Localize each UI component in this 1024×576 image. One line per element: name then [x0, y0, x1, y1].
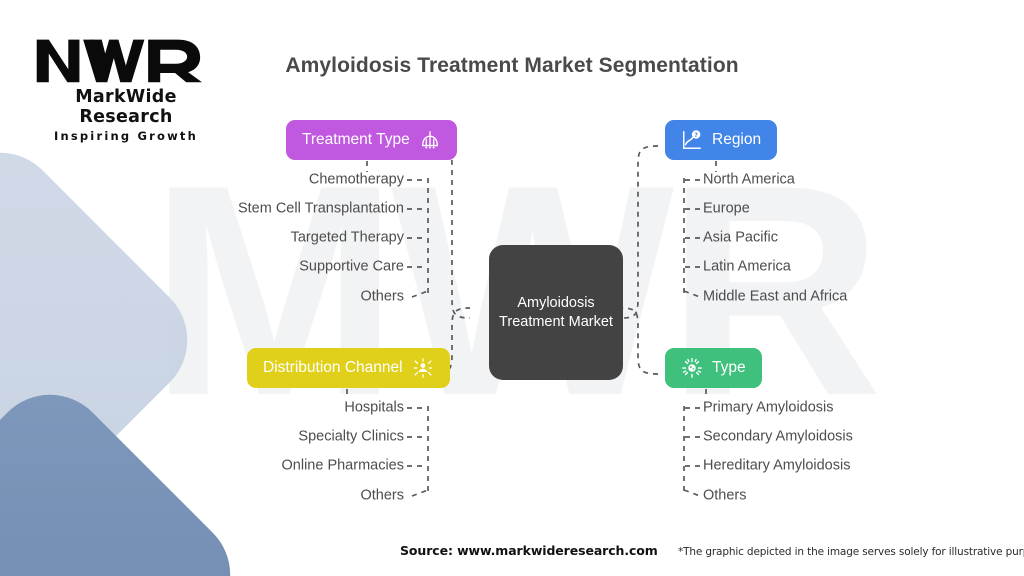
- leaf-type-2[interactable]: Hereditary Amyloidosis: [703, 458, 850, 475]
- leaf-treatment-0[interactable]: Chemotherapy: [309, 172, 404, 189]
- chart-location-icon: ?: [681, 129, 703, 151]
- wire-region-to-center: [622, 146, 658, 318]
- branch-label-treatment-type: Treatment Type: [302, 131, 410, 149]
- sun-burst-icon: [681, 357, 703, 379]
- leaf-treatment-2[interactable]: Targeted Therapy: [291, 230, 404, 247]
- center-node[interactable]: Amyloidosis Treatment Market: [489, 245, 623, 380]
- leaf-region-0[interactable]: North America: [703, 172, 795, 189]
- branch-node-region[interactable]: ? Region: [665, 120, 777, 160]
- wire-treatment-to-center: [430, 146, 470, 318]
- leaf-type-1[interactable]: Secondary Amyloidosis: [703, 429, 853, 446]
- leaf-treatment-4[interactable]: Others: [360, 289, 404, 306]
- disclaimer-note: *The graphic depicted in the image serve…: [678, 546, 1024, 558]
- svg-text:?: ?: [694, 131, 698, 139]
- leaf-treatment-1[interactable]: Stem Cell Transplantation: [238, 201, 404, 218]
- leaf-treatment-3[interactable]: Supportive Care: [299, 259, 404, 276]
- wire-treatment-leaf-4: [412, 291, 428, 297]
- leaf-region-3[interactable]: Latin America: [703, 259, 791, 276]
- branch-node-type[interactable]: Type: [665, 348, 762, 388]
- fountain-chart-icon: [419, 129, 441, 151]
- leaf-region-4[interactable]: Middle East and Africa: [703, 289, 847, 306]
- branch-node-distribution-channel[interactable]: Distribution Channel: [247, 348, 450, 388]
- leaf-distrib-1[interactable]: Specialty Clinics: [298, 429, 404, 446]
- branch-label-region: Region: [712, 131, 761, 149]
- leaf-distrib-3[interactable]: Others: [360, 488, 404, 505]
- source-label[interactable]: Source: www.markwideresearch.com: [400, 543, 658, 558]
- leaf-distrib-2[interactable]: Online Pharmacies: [282, 458, 405, 475]
- center-node-label: Amyloidosis Treatment Market: [489, 294, 623, 332]
- leaf-type-0[interactable]: Primary Amyloidosis: [703, 400, 834, 417]
- wire-distrib-leaf-3: [412, 490, 428, 496]
- branch-label-distribution-channel: Distribution Channel: [263, 359, 403, 377]
- branch-node-treatment-type[interactable]: Treatment Type: [286, 120, 457, 160]
- infographic-canvas: MWR MarkWide Research Inspiring Growth A…: [0, 0, 1024, 576]
- leaf-distrib-0[interactable]: Hospitals: [344, 400, 404, 417]
- wire-region-leaf-4: [684, 291, 700, 297]
- network-burst-icon: [412, 357, 434, 379]
- leaf-type-3[interactable]: Others: [703, 488, 747, 505]
- branch-label-type: Type: [712, 359, 746, 377]
- leaf-region-1[interactable]: Europe: [703, 201, 750, 218]
- wire-type-leaf-3: [684, 490, 700, 496]
- leaf-region-2[interactable]: Asia Pacific: [703, 230, 778, 247]
